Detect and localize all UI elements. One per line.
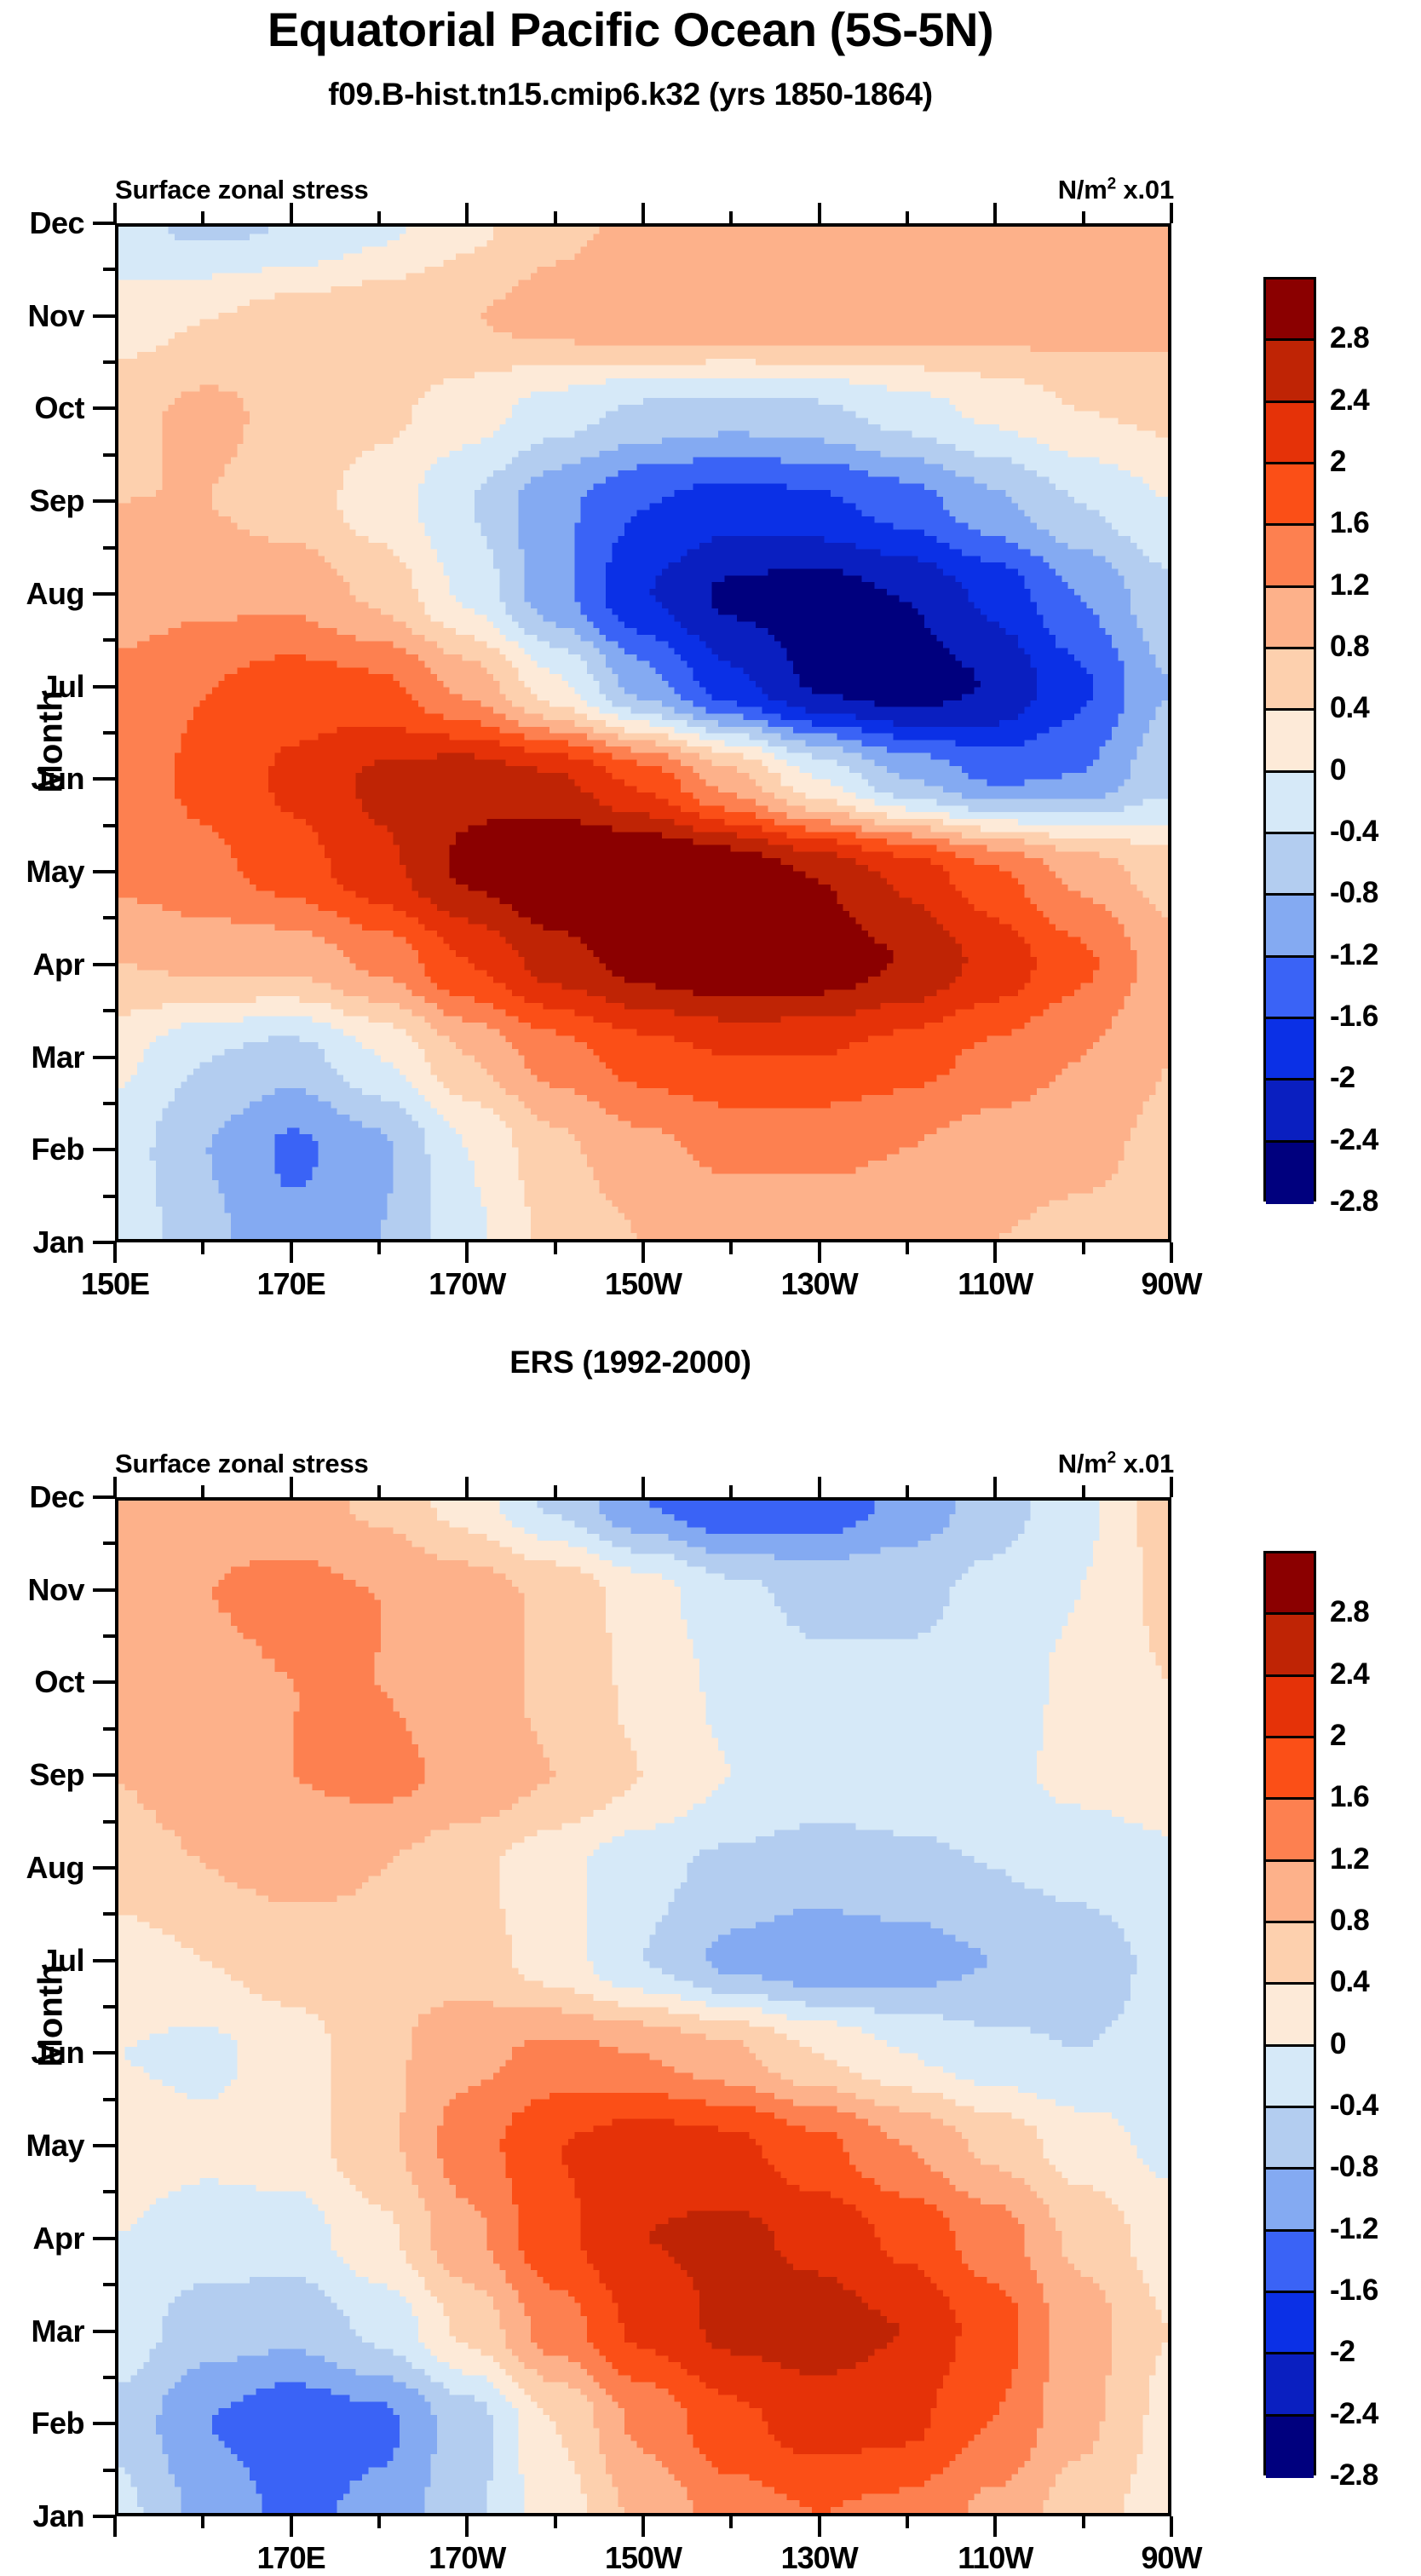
panel-header-units-obs: N/m2 x.01 [1058,1449,1174,1479]
x-tick-mark-top [993,1477,997,1497]
y-tick-label-jan: Jan [0,2498,84,2534]
x-tick-mark-bottom [993,2516,997,2537]
y-tick-label-feb: Feb [0,2406,84,2441]
x-tick-label-130w: 130W [781,2540,858,2576]
y-minor-tick [103,2098,115,2101]
colorbar-label: -2.4 [1330,2397,1378,2431]
colorbar-label: 0 [1330,2027,1345,2061]
colorbar-band [1266,1738,1314,1800]
units-exponent: 2 [1107,1449,1116,1467]
x-tick-mark-top [465,1477,469,1497]
x-minor-tick [377,2516,381,2528]
colorbar-band [1266,1553,1314,1615]
colorbar-label: 2 [1330,1719,1345,1753]
x-tick-mark-bottom [465,2516,469,2537]
x-tick-mark-bottom [113,2516,117,2537]
y-tick-label-mar: Mar [0,2314,84,2349]
colorbar-label: -2 [1330,2335,1355,2369]
x-minor-tick [554,2516,557,2528]
x-tick-mark-bottom [641,2516,645,2537]
colorbar-label: -1.6 [1330,2273,1378,2308]
colorbar-label: -0.4 [1330,2089,1378,2123]
x-tick-label-170e: 170E [257,2540,325,2576]
x-tick-label-110w: 110W [958,2540,1033,2576]
y-minor-tick [103,2190,115,2193]
x-minor-tick [201,1485,204,1497]
y-tick-label-apr: Apr [0,2221,84,2256]
colorbar-band [1266,2170,1314,2231]
colorbar-band [1266,2417,1314,2478]
y-tick-mark [93,1959,115,1962]
colorbar-label: -2.8 [1330,2458,1378,2492]
x-tick-mark-bottom [1170,2516,1173,2537]
colorbar-band [1266,2354,1314,2416]
y-tick-label-sep: Sep [0,1757,84,1793]
x-tick-mark-bottom [290,2516,293,2537]
colorbar-band [1266,1615,1314,1676]
x-minor-tick [554,1485,557,1497]
x-tick-mark-top [641,1477,645,1497]
y-tick-mark [93,2422,115,2425]
colorbar-obs [1263,1551,1316,2475]
colorbar-label: 1.2 [1330,1842,1369,1876]
y-tick-label-may: May [0,2128,84,2164]
x-tick-label-150w: 150W [605,2540,682,2576]
colorbar-band [1266,1862,1314,1923]
x-tick-mark-top [818,1477,821,1497]
colorbar-label: -0.8 [1330,2150,1378,2184]
x-minor-tick [1082,1485,1085,1497]
colorbar-band [1266,2232,1314,2293]
y-minor-tick [103,1912,115,1916]
y-tick-label-dec: Dec [0,1479,84,1515]
colorbar-label: 2.8 [1330,1595,1369,1629]
x-minor-tick [906,1485,909,1497]
y-tick-label-aug: Aug [0,1850,84,1886]
colorbar-band [1266,1985,1314,2046]
colorbar-label: 0.4 [1330,1965,1369,1999]
x-tick-label-170w: 170W [429,2540,505,2576]
x-minor-tick [1082,2516,1085,2528]
y-tick-mark [93,1588,115,1592]
colorbar-label: 2.4 [1330,1657,1369,1691]
colorbar-label: 1.6 [1330,1780,1369,1814]
y-tick-mark [93,2330,115,2333]
y-tick-mark [93,1773,115,1777]
x-minor-tick [906,2516,909,2528]
y-tick-label-oct: Oct [0,1664,84,1700]
colorbar-band [1266,2293,1314,2354]
x-minor-tick [377,1485,381,1497]
x-tick-mark-top [290,1477,293,1497]
colorbar-band [1266,2108,1314,2170]
y-minor-tick [103,1634,115,1638]
y-minor-tick [103,1727,115,1731]
hovmoller-plot-obs[interactable] [115,1497,1171,2516]
x-tick-label-90w: 90W [1141,2540,1201,2576]
colorbar-band [1266,1677,1314,1738]
x-minor-tick [201,2516,204,2528]
colorbar-band [1266,2047,1314,2108]
y-minor-tick [103,2469,115,2472]
y-tick-label-nov: Nov [0,1572,84,1608]
y-minor-tick [103,2005,115,2008]
x-tick-mark-bottom [818,2516,821,2537]
y-tick-mark [93,2051,115,2054]
y-tick-mark [93,2515,115,2518]
panel-header-variable-obs: Surface zonal stress [115,1449,369,1479]
y-minor-tick [103,1542,115,1545]
units-main: N/m [1058,1449,1107,1478]
x-minor-tick [729,1485,733,1497]
colorbar-band [1266,1800,1314,1861]
x-tick-mark-top [1170,1477,1173,1497]
x-tick-mark-top [113,1477,117,1497]
y-axis-title-obs: Month [32,1931,71,2101]
colorbar-band [1266,1923,1314,1985]
y-minor-tick [103,2376,115,2379]
y-minor-tick [103,2283,115,2286]
y-tick-mark [93,1680,115,1684]
colorbar-label: -1.2 [1330,2212,1378,2246]
y-tick-mark [93,1866,115,1870]
y-tick-mark [93,1495,115,1499]
y-tick-mark [93,2237,115,2240]
colorbar-label: 0.8 [1330,1904,1369,1938]
y-tick-mark [93,2144,115,2147]
panel-obs: Surface zonal stress N/m2 x.01 DecNovOct… [0,0,1421,2563]
x-minor-tick [729,2516,733,2528]
units-tail: x.01 [1116,1449,1174,1478]
y-minor-tick [103,1820,115,1824]
